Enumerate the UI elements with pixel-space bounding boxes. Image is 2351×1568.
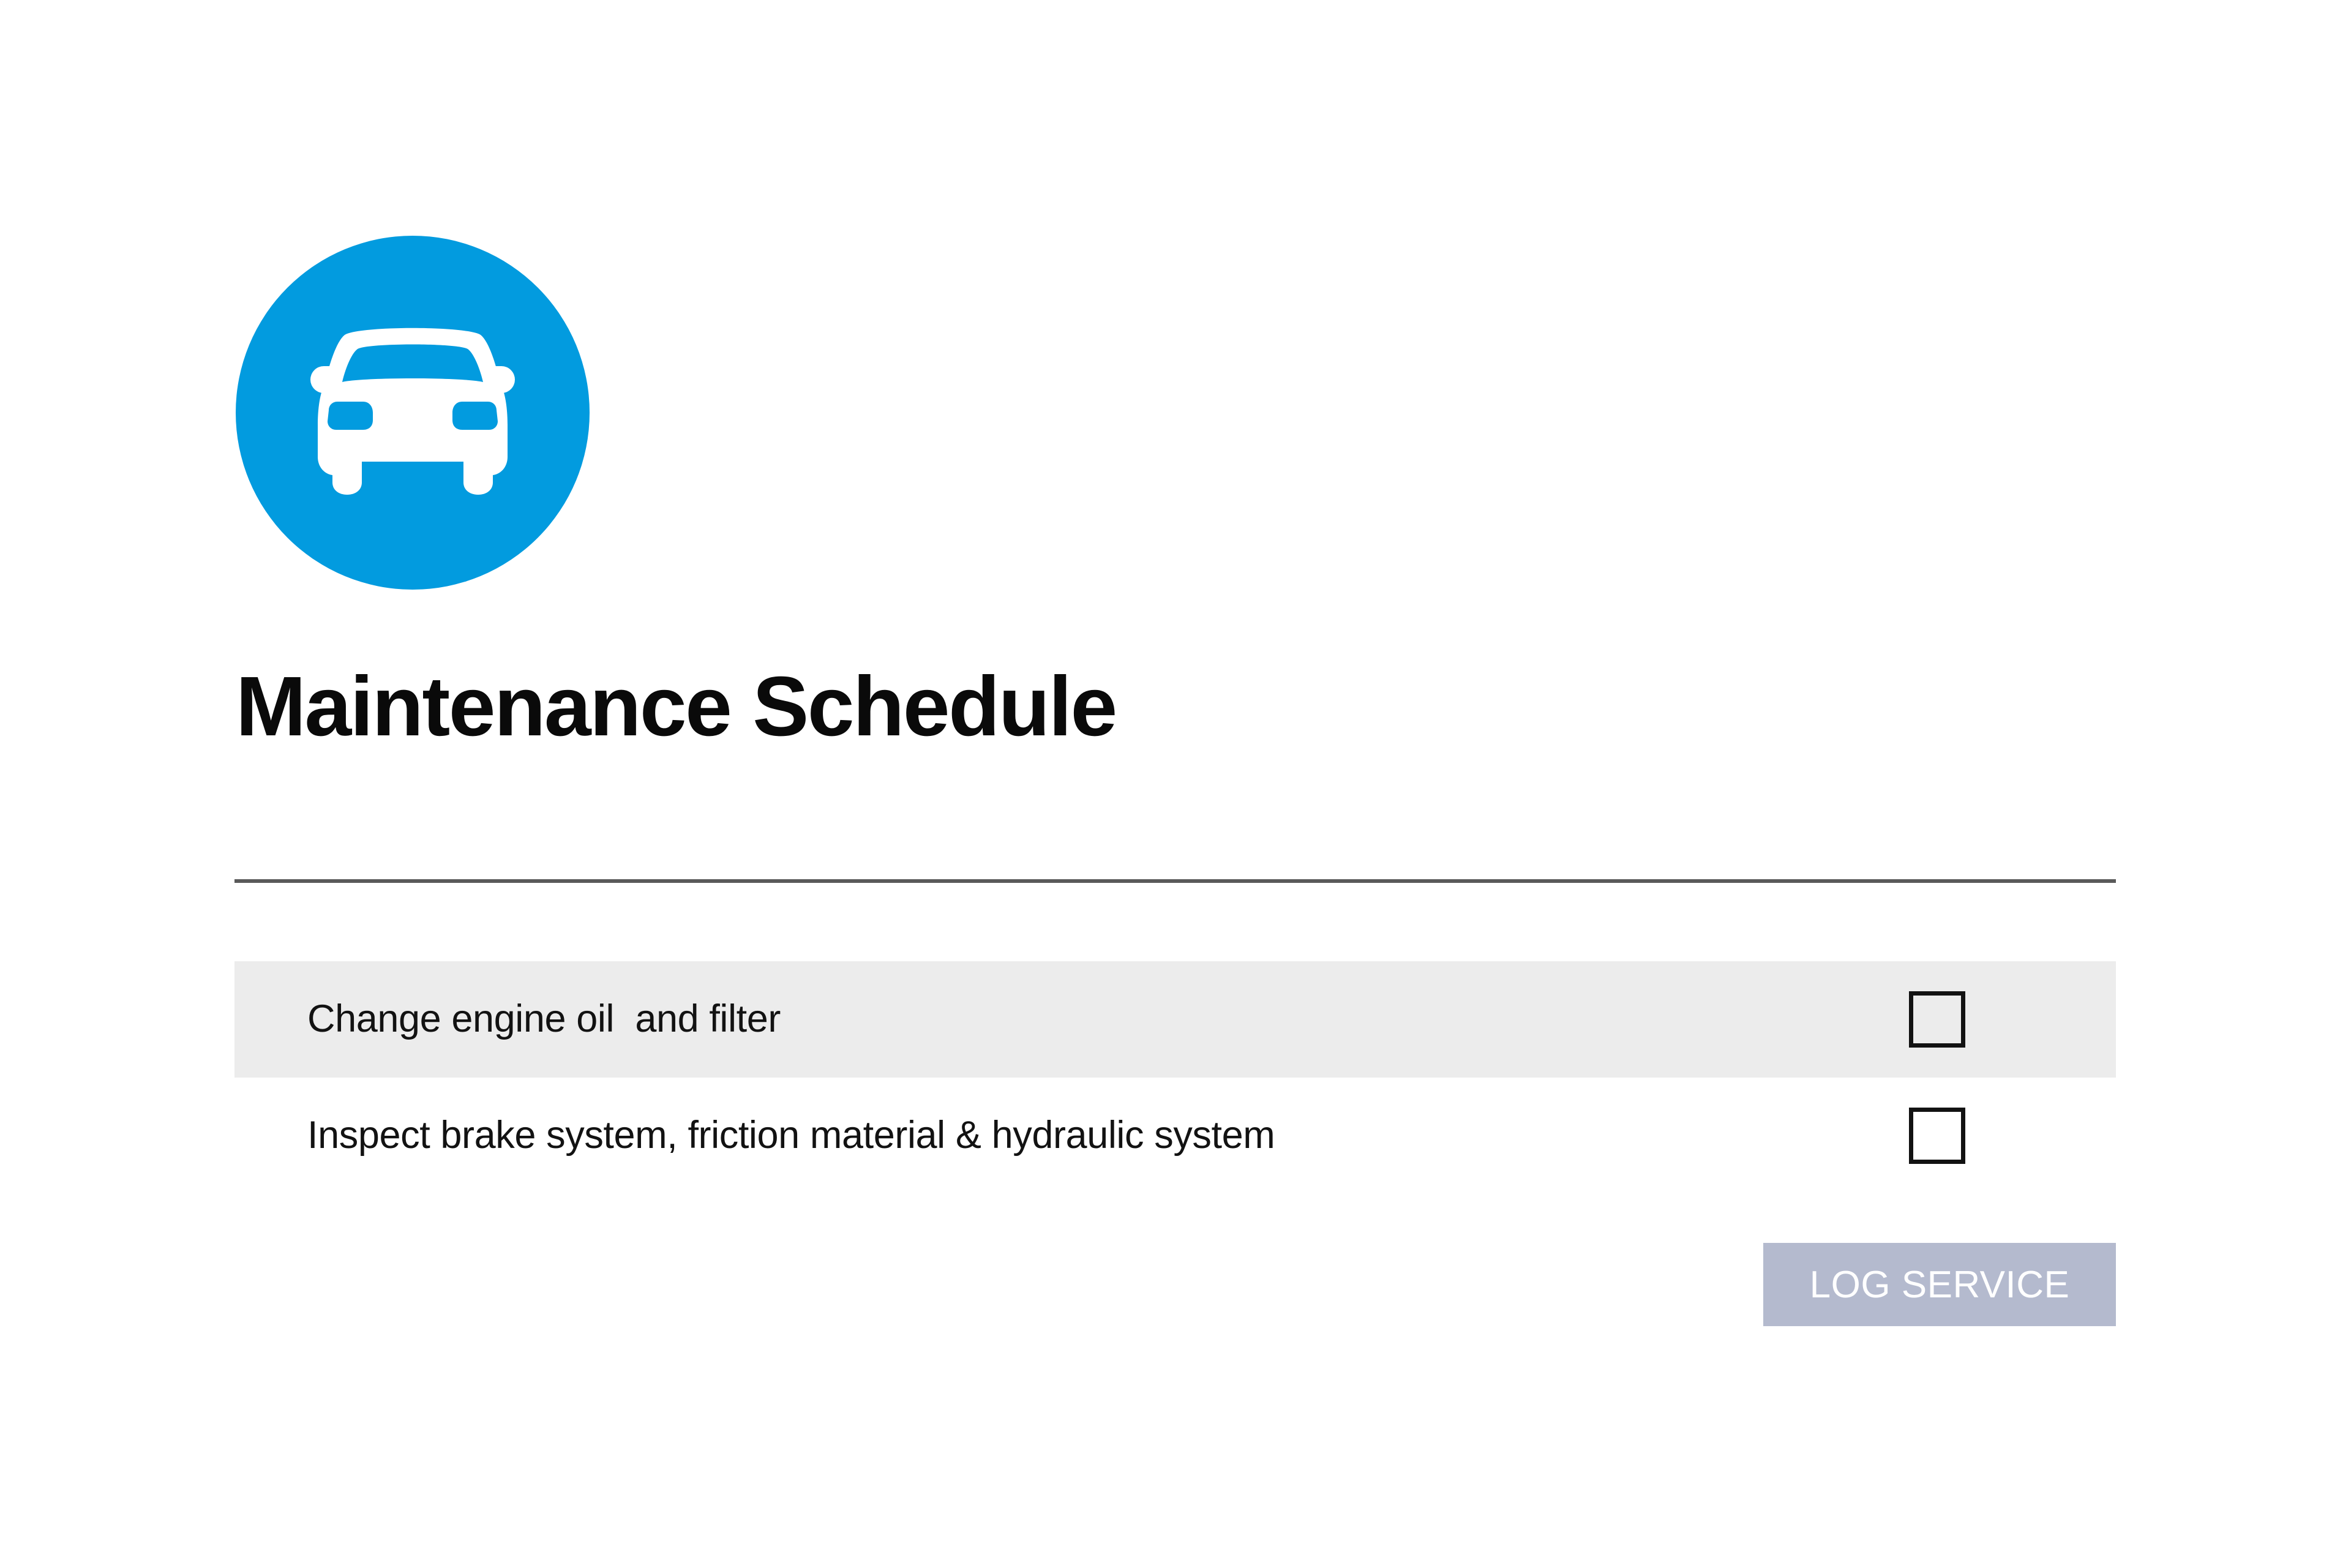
task-label: Change engine oil and filter [307,996,781,1043]
task-checkbox[interactable] [1909,1108,1965,1164]
page-title: Maintenance Schedule [236,664,1116,749]
car-front-icon [236,236,590,590]
task-row[interactable]: Inspect brake system, friction material … [234,1078,2116,1194]
log-service-button[interactable]: LOG SERVICE [1763,1243,2116,1326]
header-divider [234,879,2116,883]
maintenance-task-list: Change engine oil and filter Inspect bra… [234,961,2116,1194]
maintenance-schedule-card: Maintenance Schedule Change engine oil a… [0,0,2351,1568]
task-label: Inspect brake system, friction material … [307,1112,1275,1159]
task-row[interactable]: Change engine oil and filter [234,961,2116,1078]
task-checkbox[interactable] [1909,991,1965,1048]
